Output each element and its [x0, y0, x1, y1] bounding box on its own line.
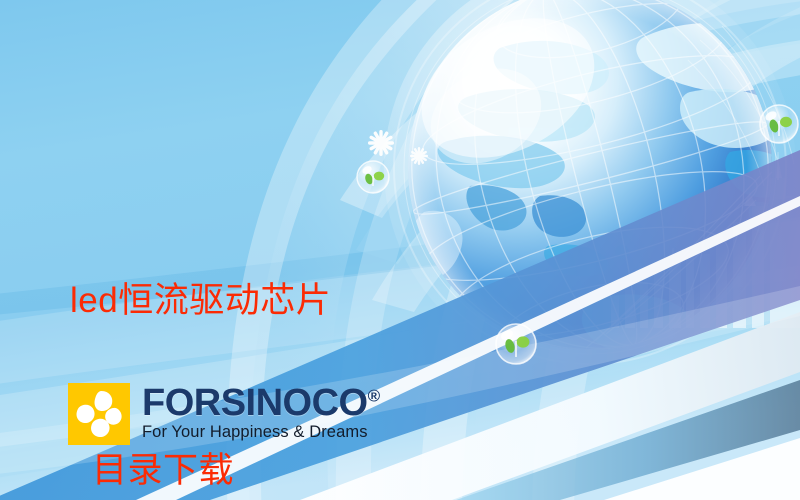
brand-wordmark: FORSINOCO® [142, 385, 380, 421]
bubble-sprout-2 [496, 324, 536, 364]
brand-tagline: For Your Happiness & Dreams [142, 423, 380, 443]
brand-logo-lockup[interactable]: FORSINOCO® For Your Happiness & Dreams [68, 383, 380, 445]
forsinoco-pinwheel-logo-icon [68, 383, 130, 445]
headline-line-1: led恒流驱动芯片 [70, 273, 490, 330]
brand-name: FORSINOCO [142, 382, 368, 424]
headline-line-2: 目录下载 [70, 443, 490, 500]
headline-text: led恒流驱动芯片 目录下载 [70, 160, 490, 500]
promo-banner: led恒流驱动芯片 目录下载 [0, 0, 800, 500]
logo-text-block: FORSINOCO® For Your Happiness & Dreams [142, 383, 380, 443]
registered-trademark-symbol: ® [368, 386, 380, 405]
bubble-sprout-3 [760, 105, 798, 143]
